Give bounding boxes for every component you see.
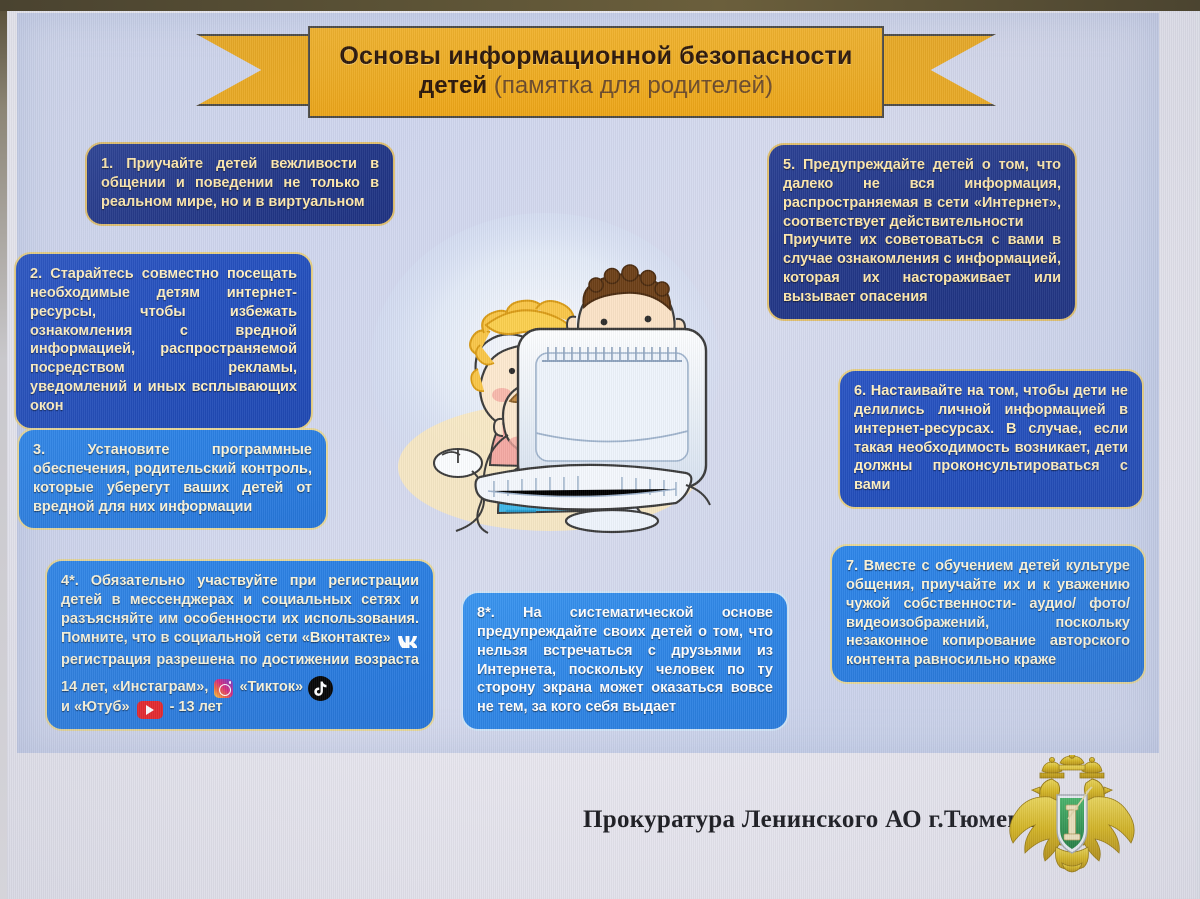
infographic-poster: Основы информационной безопасности детей…: [0, 0, 1200, 899]
tip-card-6-text: 6. Настаивайте на том, чтобы дети не дел…: [854, 382, 1128, 495]
tip-card-4-text-part4: и «Ютуб»: [61, 699, 130, 715]
tip-card-3: 3. Установите программные обеспечения, р…: [17, 428, 328, 530]
prosecutors-office-emblem: [1006, 755, 1138, 873]
tiktok-icon: [308, 676, 333, 701]
tip-card-1-text: 1. Приучайте детей вежливости в общении …: [101, 155, 379, 212]
tip-card-3-text: 3. Установите программные обеспечения, р…: [33, 441, 312, 516]
monitor-base: [566, 510, 658, 532]
photo-left-edge-strip: [0, 0, 7, 899]
tip-card-4: 4*. Обязательно участвуйте при регистрац…: [45, 559, 435, 731]
tip-card-6: 6. Настаивайте на том, чтобы дети не дел…: [838, 369, 1144, 509]
family-at-computer-illustration: [360, 205, 730, 550]
tip-card-7-text: 7. Вместе с обучением детей культуре общ…: [846, 557, 1130, 670]
poster-title-bold-word: детей: [419, 72, 487, 99]
keyboard: [476, 465, 711, 510]
boy-eye-left: [601, 319, 608, 326]
youtube-icon: [137, 701, 163, 719]
instagram-icon: [214, 679, 233, 698]
tip-card-5: 5. Предупреждайте детей о том, что далек…: [767, 143, 1077, 321]
tip-card-5-text-second: Приучите их советоваться с вами в случае…: [783, 231, 1061, 306]
title-ribbon-banner: Основы информационной безопасности детей…: [196, 26, 996, 126]
poster-title-subtitle: (памятка для родителей): [487, 72, 773, 99]
tip-card-7: 7. Вместе с обучением детей культуре общ…: [830, 544, 1146, 684]
girl-eye-left: [509, 368, 515, 374]
footer-organization-text: Прокуратура Ленинского АО г.Тюмени: [583, 806, 1037, 834]
vk-icon: [397, 632, 417, 652]
tip-card-4-text-part1: 4*. Обязательно участвуйте при регистрац…: [61, 573, 419, 646]
photo-top-edge-strip: [0, 0, 1200, 11]
ribbon-center-panel: Основы информационной безопасности детей…: [308, 26, 884, 118]
tip-card-4-text-part3: «Тикток»: [239, 679, 303, 695]
tip-card-2-text: 2. Старайтесь совместно посещать необход…: [30, 265, 297, 416]
poster-title-line1: Основы информационной безопасности: [339, 43, 852, 70]
tip-card-1: 1. Приучайте детей вежливости в общении …: [85, 142, 395, 226]
tip-card-8-text: 8*. На систематической основе предупрежд…: [477, 604, 773, 717]
tip-card-4-text-part5: - 13 лет: [170, 699, 223, 715]
boy-eye-right: [645, 316, 652, 323]
tip-card-2: 2. Старайтесь совместно посещать необход…: [14, 252, 313, 430]
tip-card-5-text: 5. Предупреждайте детей о том, что далек…: [783, 156, 1061, 231]
poster-title-line2: детей (памятка для родителей): [419, 73, 773, 99]
tip-card-8: 8*. На систематической основе предупрежд…: [461, 591, 789, 731]
